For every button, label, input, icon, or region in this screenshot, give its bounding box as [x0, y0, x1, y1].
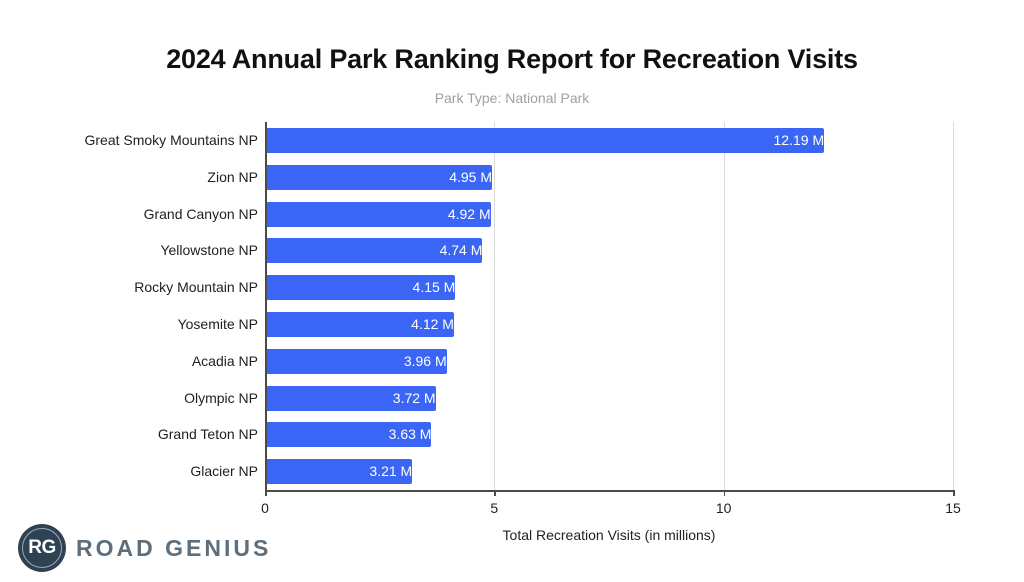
chart-title: 2024 Annual Park Ranking Report for Recr…	[0, 44, 1024, 75]
y-axis-category-label: Grand Canyon NP	[8, 202, 258, 227]
x-tick-mark-15	[953, 490, 955, 496]
bar-value-label: 3.21 M	[265, 459, 419, 484]
bar-row[interactable]: 4.74 M	[265, 238, 953, 263]
bar-value-label: 4.15 M	[265, 275, 462, 300]
y-axis-category-label: Yosemite NP	[8, 312, 258, 337]
bar-row[interactable]: 4.15 M	[265, 275, 953, 300]
y-axis-category-label: Acadia NP	[8, 349, 258, 374]
x-tick-label: 10	[716, 500, 732, 516]
logo-wordmark: ROAD GENIUS	[76, 535, 271, 562]
y-axis-category-label: Great Smoky Mountains NP	[8, 128, 258, 153]
x-axis-line	[265, 490, 953, 492]
bar-value-label: 3.96 M	[265, 349, 454, 374]
y-axis-line	[265, 122, 267, 490]
bar-value-label: 3.63 M	[265, 422, 438, 447]
chart-container: 2024 Annual Park Ranking Report for Recr…	[0, 0, 1024, 582]
plot-area: 12.19 M4.95 M4.92 M4.74 M4.15 M4.12 M3.9…	[265, 122, 953, 490]
bar-value-label: 4.74 M	[265, 238, 489, 263]
x-axis-title: Total Recreation Visits (in millions)	[265, 527, 953, 543]
bar-value-label: 4.95 M	[265, 165, 499, 190]
y-axis-category-label: Yellowstone NP	[8, 238, 258, 263]
y-axis-category-label: Rocky Mountain NP	[8, 275, 258, 300]
x-tick-label: 0	[261, 500, 269, 516]
bar-row[interactable]: 3.63 M	[265, 422, 953, 447]
gridline-15	[953, 122, 954, 490]
x-tick-label: 5	[490, 500, 498, 516]
bar-value-label: 12.19 M	[265, 128, 831, 153]
chart-subtitle: Park Type: National Park	[0, 90, 1024, 106]
logo-badge-text: RG	[28, 537, 56, 559]
y-axis-category-label: Grand Teton NP	[8, 422, 258, 447]
bar-row[interactable]: 3.72 M	[265, 386, 953, 411]
bar-row[interactable]: 12.19 M	[265, 128, 953, 153]
bar-row[interactable]: 3.96 M	[265, 349, 953, 374]
logo-badge-icon: RG	[18, 524, 66, 572]
bar-row[interactable]: 4.12 M	[265, 312, 953, 337]
bar-row[interactable]: 3.21 M	[265, 459, 953, 484]
y-axis-category-label: Zion NP	[8, 165, 258, 190]
bar-value-label: 4.12 M	[265, 312, 461, 337]
y-axis-category-label: Olympic NP	[8, 386, 258, 411]
road-genius-logo: RG ROAD GENIUS	[18, 524, 271, 572]
bar-row[interactable]: 4.95 M	[265, 165, 953, 190]
x-tick-mark-0	[265, 490, 267, 496]
x-tick-mark-10	[724, 490, 726, 496]
x-tick-label: 15	[945, 500, 961, 516]
bar-value-label: 3.72 M	[265, 386, 443, 411]
bar-value-label: 4.92 M	[265, 202, 498, 227]
bar-row[interactable]: 4.92 M	[265, 202, 953, 227]
x-tick-mark-5	[494, 490, 496, 496]
y-axis-category-label: Glacier NP	[8, 459, 258, 484]
